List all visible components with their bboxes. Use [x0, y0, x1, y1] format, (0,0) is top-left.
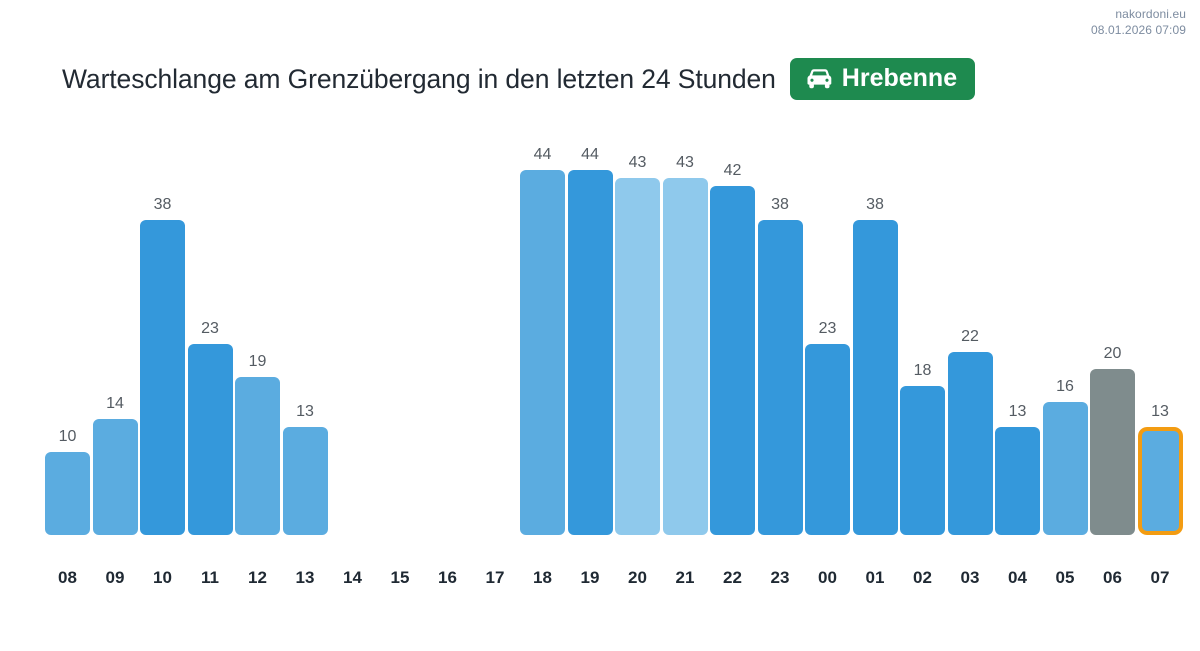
bar-value-label: 42: [710, 162, 755, 180]
x-axis-tick: 00: [805, 568, 850, 588]
watermark-site: nakordoni.eu: [1091, 6, 1186, 22]
bar-slot: 20: [1090, 130, 1135, 535]
bar[interactable]: [900, 386, 945, 535]
bar[interactable]: [568, 170, 613, 535]
bar-value-label: 13: [283, 403, 328, 421]
bar-slot: 18: [900, 130, 945, 535]
bar-value-label: 43: [663, 154, 708, 172]
x-axis-tick: 01: [853, 568, 898, 588]
x-axis-tick: 03: [948, 568, 993, 588]
x-axis-tick: 23: [758, 568, 803, 588]
x-axis-tick: 12: [235, 568, 280, 588]
bar-value-label: 22: [948, 328, 993, 346]
bar-value-label: 23: [188, 320, 233, 338]
x-axis-tick: 02: [900, 568, 945, 588]
bar-slot: 43: [615, 130, 660, 535]
bar-slot: 38: [853, 130, 898, 535]
bar-value-label: 10: [45, 428, 90, 446]
bar-value-label: 13: [1138, 403, 1183, 421]
bar[interactable]: [520, 170, 565, 535]
x-axis-tick: 09: [93, 568, 138, 588]
x-axis-tick: 04: [995, 568, 1040, 588]
bar-value-label: 38: [853, 196, 898, 214]
bar[interactable]: [710, 186, 755, 535]
x-axis-tick: 16: [425, 568, 470, 588]
bar[interactable]: [1043, 402, 1088, 535]
bar-slot: 38: [140, 130, 185, 535]
bar[interactable]: [93, 419, 138, 535]
x-axis-tick: 06: [1090, 568, 1135, 588]
bar-slot: 23: [805, 130, 850, 535]
bar-value-label: 23: [805, 320, 850, 338]
x-axis-tick: 17: [473, 568, 518, 588]
title-row: Warteschlange am Grenzübergang in den le…: [62, 58, 975, 100]
bar-slot: 10: [45, 130, 90, 535]
x-axis-tick: 19: [568, 568, 613, 588]
bar[interactable]: [188, 344, 233, 535]
bar-value-label: 38: [758, 196, 803, 214]
bar[interactable]: [283, 427, 328, 535]
bar[interactable]: [663, 178, 708, 535]
watermark-timestamp: 08.01.2026 07:09: [1091, 22, 1186, 38]
bar-slot: 23: [188, 130, 233, 535]
bar[interactable]: [45, 452, 90, 535]
bar-value-label: 18: [900, 362, 945, 380]
chart-page: nakordoni.eu 08.01.2026 07:09 Warteschla…: [0, 0, 1200, 651]
bar[interactable]: [853, 220, 898, 535]
bar[interactable]: [805, 344, 850, 535]
bar-slot: 22: [948, 130, 993, 535]
bar-value-label: 43: [615, 154, 660, 172]
bar-slot: 13: [995, 130, 1040, 535]
x-axis: 0809101112131415161718192021222300010203…: [45, 568, 1185, 598]
bar[interactable]: [1090, 369, 1135, 535]
x-axis-tick: 15: [378, 568, 423, 588]
bar-slot: 13: [1138, 130, 1183, 535]
bar[interactable]: [615, 178, 660, 535]
badge-label: Hrebenne: [842, 66, 957, 91]
x-axis-tick: 21: [663, 568, 708, 588]
bar-value-label: 44: [568, 146, 613, 164]
x-axis-tick: 10: [140, 568, 185, 588]
x-axis-tick: 18: [520, 568, 565, 588]
bar[interactable]: [758, 220, 803, 535]
bar-value-label: 16: [1043, 378, 1088, 396]
bar-value-label: 20: [1090, 345, 1135, 363]
border-crossing-badge[interactable]: Hrebenne: [790, 58, 975, 100]
bar-value-label: 19: [235, 353, 280, 371]
x-axis-tick: 08: [45, 568, 90, 588]
bar-slot: 44: [568, 130, 613, 535]
car-icon: [806, 69, 833, 89]
bar[interactable]: [948, 352, 993, 535]
bar-value-label: 44: [520, 146, 565, 164]
x-axis-tick: 07: [1138, 568, 1183, 588]
page-title: Warteschlange am Grenzübergang in den le…: [62, 64, 776, 95]
x-axis-tick: 05: [1043, 568, 1088, 588]
x-axis-tick: 11: [188, 568, 233, 588]
x-axis-tick: 13: [283, 568, 328, 588]
bar[interactable]: [235, 377, 280, 535]
bar-slot: 13: [283, 130, 328, 535]
bar-slot: 16: [1043, 130, 1088, 535]
bar-slot: 44: [520, 130, 565, 535]
bar-slot: 19: [235, 130, 280, 535]
bar-value-label: 13: [995, 403, 1040, 421]
bar-value-label: 38: [140, 196, 185, 214]
bar-slot: 43: [663, 130, 708, 535]
x-axis-tick: 14: [330, 568, 375, 588]
bar[interactable]: [995, 427, 1040, 535]
x-axis-tick: 20: [615, 568, 660, 588]
bar[interactable]: [1138, 427, 1183, 535]
bar-value-label: 14: [93, 395, 138, 413]
x-axis-tick: 22: [710, 568, 755, 588]
bar-slot: 14: [93, 130, 138, 535]
watermark: nakordoni.eu 08.01.2026 07:09: [1091, 6, 1186, 38]
bar[interactable]: [140, 220, 185, 535]
bar-slot: 38: [758, 130, 803, 535]
bar-chart-plot: 1014382319134444434342382338182213162013: [45, 130, 1185, 535]
bar-slot: 42: [710, 130, 755, 535]
